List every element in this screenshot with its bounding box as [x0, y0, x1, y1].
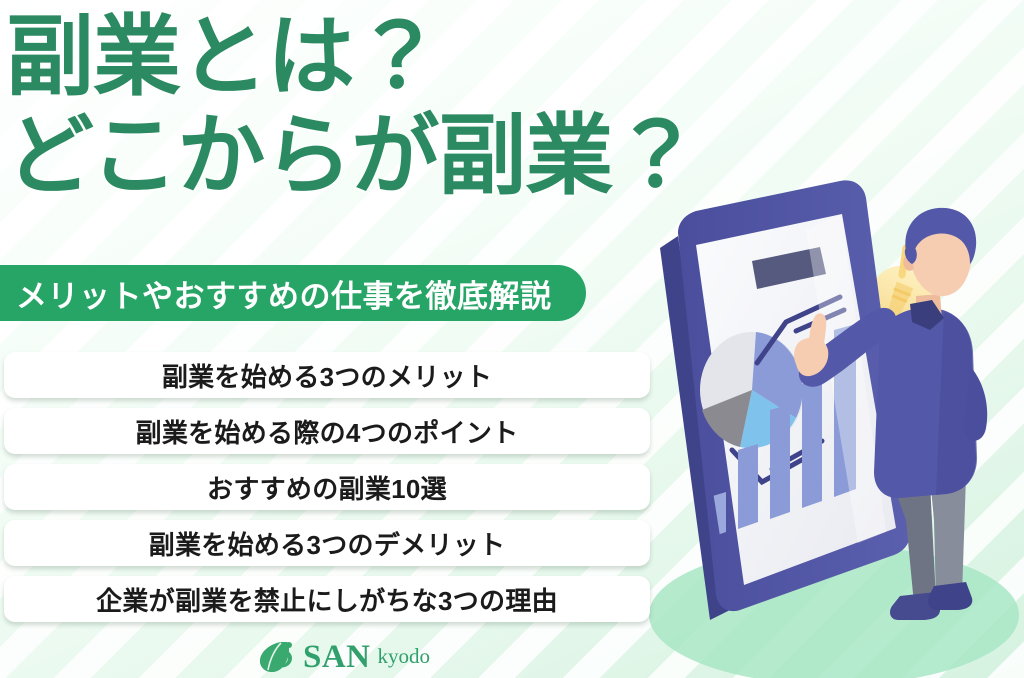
list-item[interactable]: 副業を始める3つのメリット	[4, 352, 650, 398]
logo-secondary-text: kyodo	[378, 646, 431, 669]
list-item[interactable]: おすすめの副業10選	[4, 464, 650, 510]
title-line-2: どこからが副業？	[6, 107, 826, 206]
title-line-1: 副業とは？	[6, 8, 826, 107]
list-item-label: 副業を始める際の4つのポイント	[136, 413, 519, 450]
subtitle-ribbon-label: メリットやおすすめの仕事を徹底解説	[16, 271, 552, 316]
subtitle-ribbon: メリットやおすすめの仕事を徹底解説	[0, 265, 586, 321]
list-item[interactable]: 副業を始める3つのデメリット	[4, 520, 650, 566]
smartphone-icon	[660, 180, 910, 620]
logo-primary-text: SAN	[303, 641, 371, 674]
list-item-label: 企業が副業を禁止にしがちな3つの理由	[96, 581, 558, 618]
list-item-label: 副業を始める3つのデメリット	[149, 525, 506, 562]
brand-logo[interactable]: SAN kyodo	[258, 640, 430, 674]
shoe-front-icon	[928, 582, 972, 610]
list-item[interactable]: 副業を始める際の4つのポイント	[4, 408, 650, 454]
leaf-swoosh-icon	[258, 640, 296, 674]
banner-canvas: 副業とは？ どこからが副業？ メリットやおすすめの仕事を徹底解説 副業を始める3…	[0, 0, 1024, 678]
list-item[interactable]: 企業が副業を禁止にしがちな3つの理由	[4, 576, 650, 622]
topic-list: 副業を始める3つのメリット 副業を始める際の4つのポイント おすすめの副業10選…	[4, 352, 650, 632]
list-item-label: おすすめの副業10選	[207, 469, 447, 506]
page-title: 副業とは？ どこからが副業？	[6, 8, 826, 205]
list-item-label: 副業を始める3つのメリット	[162, 357, 492, 394]
